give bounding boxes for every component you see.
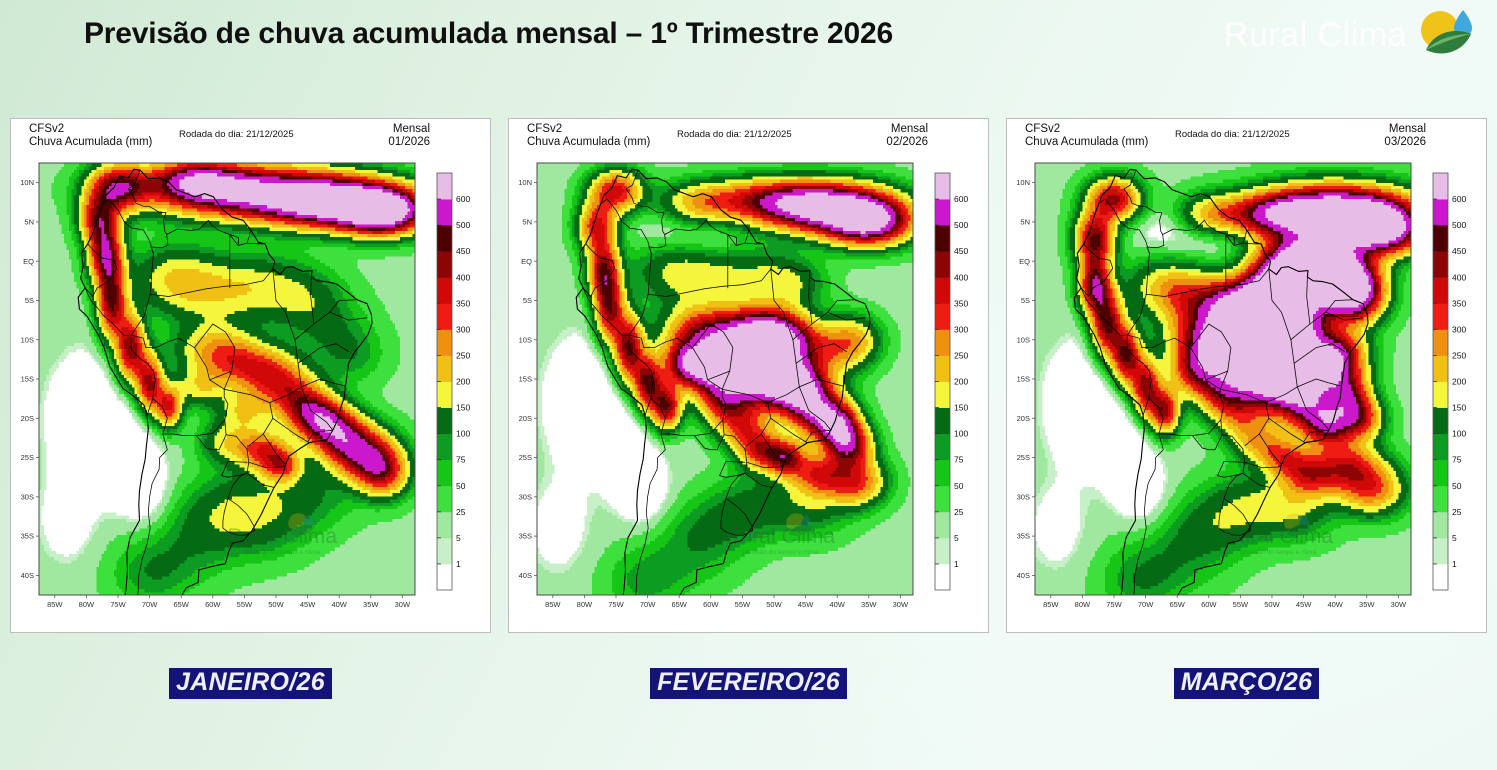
- month-label-february: FEVEREIRO/26: [650, 668, 847, 699]
- map-body[interactable]: Rural Climaprevisão do tempo e clima10N5…: [1007, 155, 1486, 632]
- caption-slot-february: FEVEREIRO/26: [508, 668, 989, 702]
- forecast-panel-february[interactable]: CFSv2 Chuva Acumulada (mm) Rodada do dia…: [508, 118, 989, 633]
- panel-header-center: Rodada do dia: 21/12/2025: [1175, 124, 1290, 142]
- map-body[interactable]: Rural Climaprevisão do tempo e clima10N5…: [509, 155, 988, 632]
- caption-slot-january: JANEIRO/26: [10, 668, 491, 702]
- run-date-label: Rodada do dia: 21/12/2025: [1175, 129, 1290, 140]
- month-captions-row: JANEIRO/26 FEVEREIRO/26 MARÇO/26: [0, 668, 1497, 702]
- model-label: CFSv2: [1025, 123, 1148, 136]
- forecast-infographic: Previsão de chuva acumulada mensal – 1º …: [0, 0, 1497, 770]
- model-label: CFSv2: [527, 123, 650, 136]
- precipitation-map-march[interactable]: Rural Climaprevisão do tempo e clima10N5…: [1007, 155, 1486, 632]
- header: Previsão de chuva acumulada mensal – 1º …: [0, 0, 1497, 75]
- panel-header-center: Rodada do dia: 21/12/2025: [179, 124, 294, 142]
- run-date-label: Rodada do dia: 21/12/2025: [677, 129, 792, 140]
- period-date-label: 01/2026: [388, 136, 430, 149]
- map-panels-row: CFSv2 Chuva Acumulada (mm) Rodada do dia…: [0, 118, 1497, 638]
- rural-clima-logo-icon: [1413, 6, 1475, 64]
- period-label: Mensal: [1384, 123, 1426, 136]
- month-label-march: MARÇO/26: [1174, 668, 1320, 699]
- panel-header-right: Mensal 01/2026: [388, 123, 430, 149]
- precipitation-map-february[interactable]: Rural Climaprevisão do tempo e clima10N5…: [509, 155, 988, 632]
- panel-header: CFSv2 Chuva Acumulada (mm) Rodada do dia…: [1007, 119, 1486, 155]
- period-label: Mensal: [388, 123, 430, 136]
- panel-header-right: Mensal 03/2026: [1384, 123, 1426, 149]
- panel-header-left: CFSv2 Chuva Acumulada (mm): [29, 123, 152, 149]
- forecast-panel-january[interactable]: CFSv2 Chuva Acumulada (mm) Rodada do dia…: [10, 118, 491, 633]
- map-body[interactable]: Rural Climaprevisão do tempo e clima10N5…: [11, 155, 490, 632]
- variable-label: Chuva Acumulada (mm): [29, 136, 152, 149]
- model-label: CFSv2: [29, 123, 152, 136]
- panel-header-right: Mensal 02/2026: [886, 123, 928, 149]
- forecast-panel-march[interactable]: CFSv2 Chuva Acumulada (mm) Rodada do dia…: [1006, 118, 1487, 633]
- caption-slot-march: MARÇO/26: [1006, 668, 1487, 702]
- variable-label: Chuva Acumulada (mm): [1025, 136, 1148, 149]
- panel-header: CFSv2 Chuva Acumulada (mm) Rodada do dia…: [509, 119, 988, 155]
- period-label: Mensal: [886, 123, 928, 136]
- month-label-january: JANEIRO/26: [169, 668, 332, 699]
- variable-label: Chuva Acumulada (mm): [527, 136, 650, 149]
- brand-name: Rural Clima: [1224, 16, 1407, 55]
- precipitation-map-january[interactable]: Rural Climaprevisão do tempo e clima10N5…: [11, 155, 490, 632]
- run-date-label: Rodada do dia: 21/12/2025: [179, 129, 294, 140]
- period-date-label: 02/2026: [886, 136, 928, 149]
- period-date-label: 03/2026: [1384, 136, 1426, 149]
- brand-logo: Rural Clima: [1224, 6, 1475, 64]
- panel-header-center: Rodada do dia: 21/12/2025: [677, 124, 792, 142]
- page-title: Previsão de chuva acumulada mensal – 1º …: [84, 17, 893, 51]
- panel-header-left: CFSv2 Chuva Acumulada (mm): [527, 123, 650, 149]
- panel-header-left: CFSv2 Chuva Acumulada (mm): [1025, 123, 1148, 149]
- panel-header: CFSv2 Chuva Acumulada (mm) Rodada do dia…: [11, 119, 490, 155]
